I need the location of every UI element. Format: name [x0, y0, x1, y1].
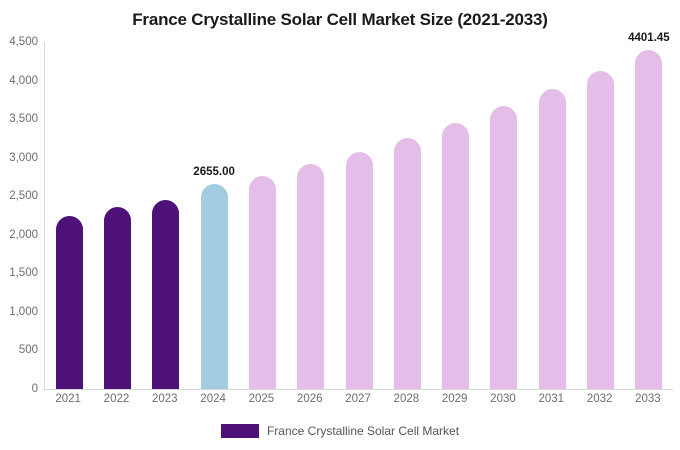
bar-2025[interactable]: [249, 176, 276, 389]
bar-slot: [480, 42, 528, 389]
bar-slot: [383, 42, 431, 389]
bar-slot: [287, 42, 335, 389]
y-axis-tick-label: 4,000: [9, 75, 38, 87]
legend-swatch-icon: [221, 424, 259, 438]
x-axis-tick-label-2023: 2023: [141, 393, 189, 413]
bars-layer: 2655.004401.45: [45, 42, 673, 389]
x-axis-tick-label-2022: 2022: [92, 393, 140, 413]
y-axis-tick-label: 0: [32, 383, 38, 395]
bar-2032[interactable]: [587, 71, 614, 389]
bar-slot: 4401.45: [625, 42, 673, 389]
y-axis-tick-label: 1,500: [9, 267, 38, 279]
x-axis: 2021202220232024202520262027202820292030…: [44, 393, 672, 413]
y-axis-tick-label: 2,500: [9, 190, 38, 202]
x-axis-tick-label-2026: 2026: [286, 393, 334, 413]
bar-value-label-2024: 2655.00: [193, 166, 235, 178]
x-axis-tick-label-2031: 2031: [527, 393, 575, 413]
bar-slot: [528, 42, 576, 389]
y-axis-tick-label: 500: [19, 344, 38, 356]
bar-2024[interactable]: [201, 184, 228, 389]
x-axis-tick-label-2028: 2028: [382, 393, 430, 413]
y-axis-tick-label: 1,000: [9, 306, 38, 318]
bar-2029[interactable]: [442, 123, 469, 389]
bar-2022[interactable]: [104, 207, 131, 389]
bar-2028[interactable]: [394, 138, 421, 389]
bar-2033[interactable]: [635, 50, 662, 389]
y-axis-tick-label: 4,500: [9, 36, 38, 48]
plot-area: 2655.004401.45: [44, 42, 673, 390]
bar-2030[interactable]: [490, 106, 517, 389]
bar-2023[interactable]: [152, 200, 179, 389]
bar-chart: France Crystalline Solar Cell Market Siz…: [0, 0, 680, 450]
bar-slot: [576, 42, 624, 389]
bar-slot: [45, 42, 93, 389]
bar-slot: [142, 42, 190, 389]
x-axis-tick-label-2029: 2029: [431, 393, 479, 413]
bar-slot: [335, 42, 383, 389]
x-axis-tick-label-2027: 2027: [334, 393, 382, 413]
chart-legend: France Crystalline Solar Cell Market: [0, 424, 680, 438]
y-axis-tick-label: 2,000: [9, 229, 38, 241]
legend-item-label: France Crystalline Solar Cell Market: [267, 424, 459, 438]
y-axis-tick-label: 3,000: [9, 152, 38, 164]
bar-slot: [432, 42, 480, 389]
bar-2021[interactable]: [56, 216, 83, 389]
x-axis-tick-label-2032: 2032: [575, 393, 623, 413]
bar-slot: 2655.00: [190, 42, 238, 389]
x-axis-tick-label-2025: 2025: [237, 393, 285, 413]
x-axis-tick-label-2033: 2033: [624, 393, 672, 413]
x-axis-tick-label-2030: 2030: [479, 393, 527, 413]
bar-value-label-2033: 4401.45: [628, 32, 670, 44]
x-axis-tick-label-2024: 2024: [189, 393, 237, 413]
bar-2027[interactable]: [346, 152, 373, 390]
bar-2026[interactable]: [297, 164, 324, 389]
bar-2031[interactable]: [539, 89, 566, 389]
chart-title: France Crystalline Solar Cell Market Siz…: [0, 10, 680, 30]
bar-slot: [93, 42, 141, 389]
x-axis-tick-label-2021: 2021: [44, 393, 92, 413]
bar-slot: [238, 42, 286, 389]
y-axis-tick-label: 3,500: [9, 113, 38, 125]
y-axis: 05001,0001,5002,0002,5003,0003,5004,0004…: [0, 42, 38, 389]
